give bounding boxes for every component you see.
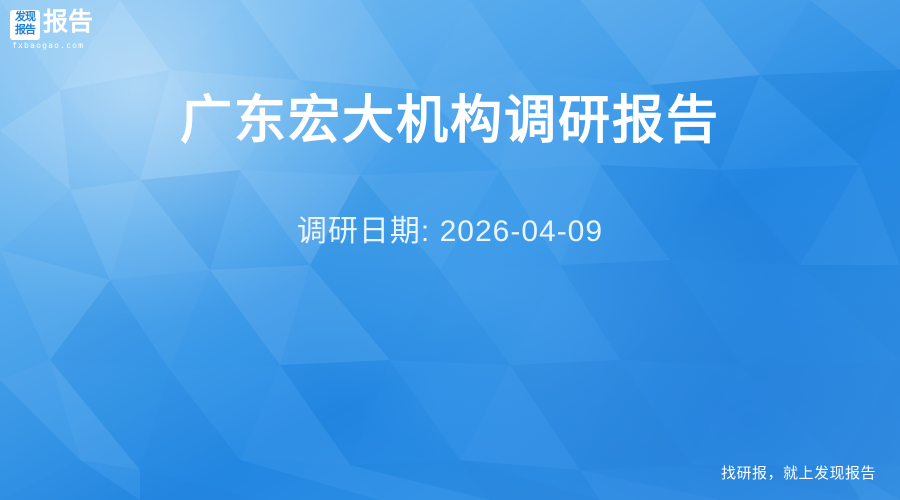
survey-date: 调研日期: 2026-04-09: [297, 212, 603, 252]
title-slide: 发现 报告 报告 fxbaogao.com 广东宏大机构调研报告 调研日期: 2…: [0, 0, 900, 500]
footer-slogan: 找研报，就上发现报告: [721, 464, 876, 484]
page-title: 广东宏大机构调研报告: [180, 88, 720, 154]
slide-content: 广东宏大机构调研报告 调研日期: 2026-04-09: [0, 0, 900, 500]
